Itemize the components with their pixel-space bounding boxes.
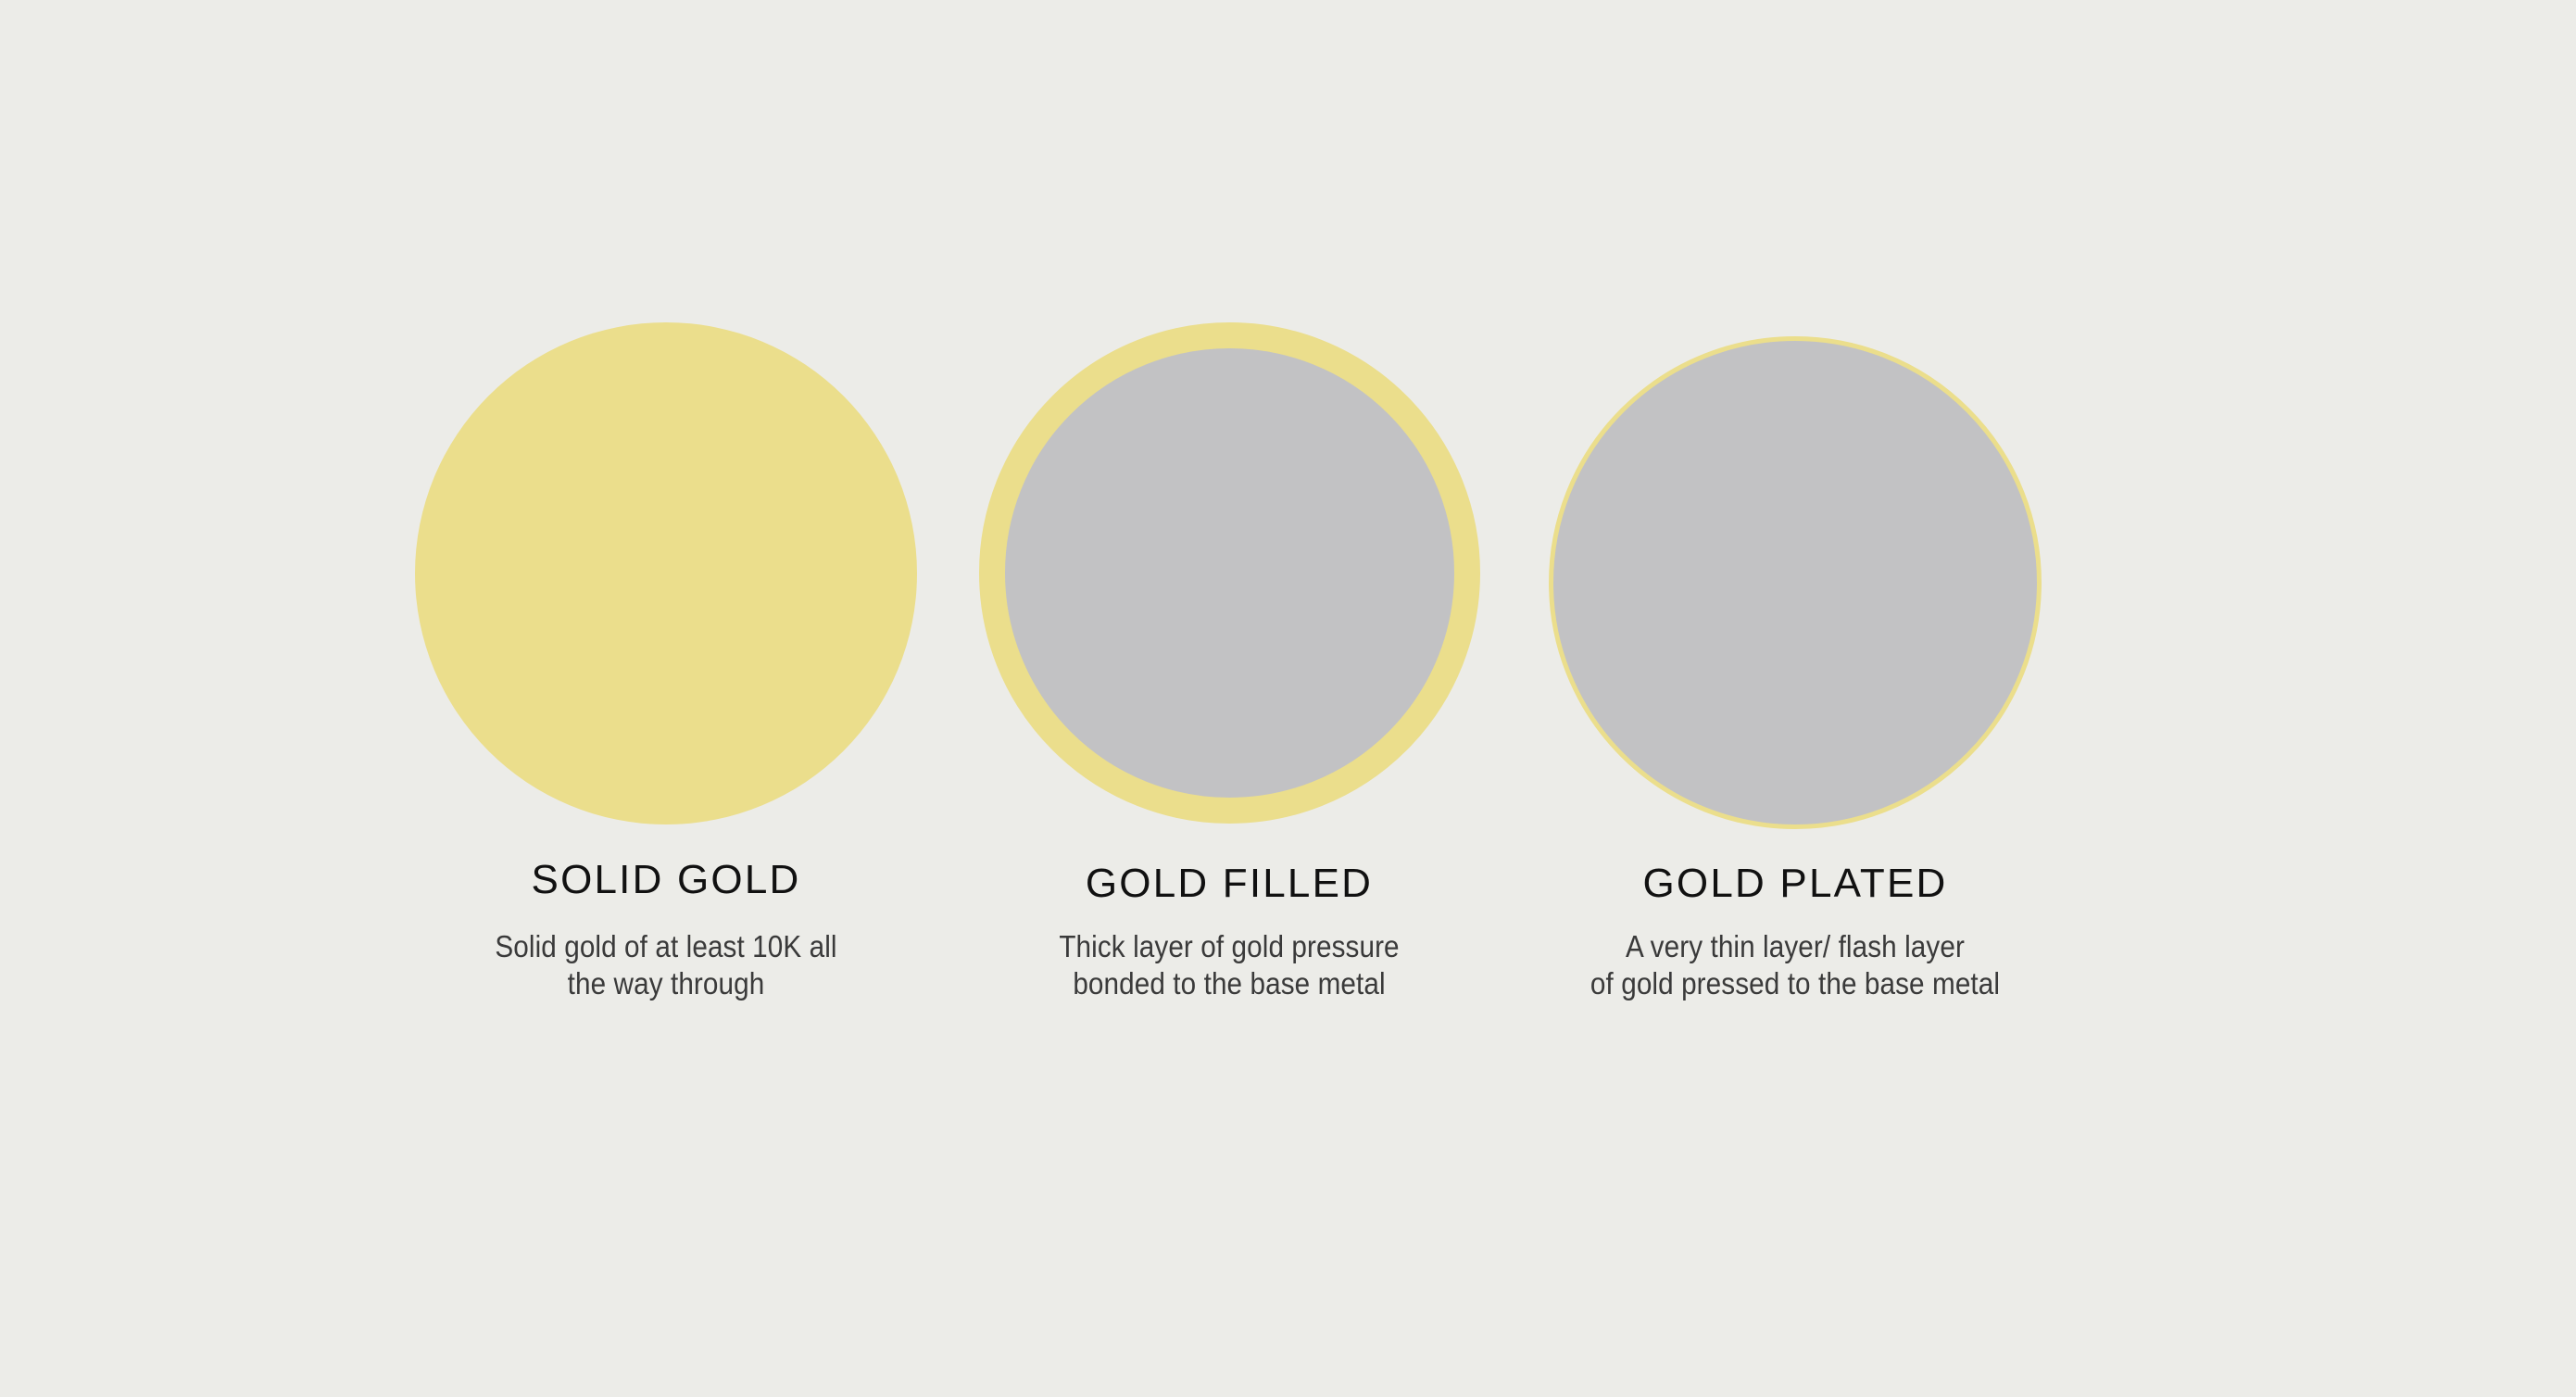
label-block-gold-plated: GOLD PLATED (1454, 861, 2136, 907)
gold-filled-circle-icon (979, 322, 1480, 824)
description-line: A very thin layer/ flash layer (1489, 928, 2102, 965)
description-gold-filled: Thick layer of gold pressure bonded to t… (929, 928, 1529, 1002)
description-line: bonded to the base metal (929, 965, 1529, 1002)
title-gold-plated: GOLD PLATED (1454, 861, 2136, 907)
column-gold-plated: GOLD PLATED A very thin layer/ flash lay… (1454, 0, 2136, 1397)
description-gold-plated: A very thin layer/ flash layer of gold p… (1489, 928, 2102, 1002)
gold-types-infographic: SOLID GOLD Solid gold of at least 10K al… (0, 0, 2576, 1397)
gold-plated-circle-icon (1549, 336, 2042, 829)
description-line: of gold pressed to the base metal (1489, 965, 2102, 1002)
description-line: Thick layer of gold pressure (929, 928, 1529, 965)
solid-gold-circle-icon (415, 322, 917, 824)
graphic-slot-gold-plated (1454, 336, 2136, 829)
